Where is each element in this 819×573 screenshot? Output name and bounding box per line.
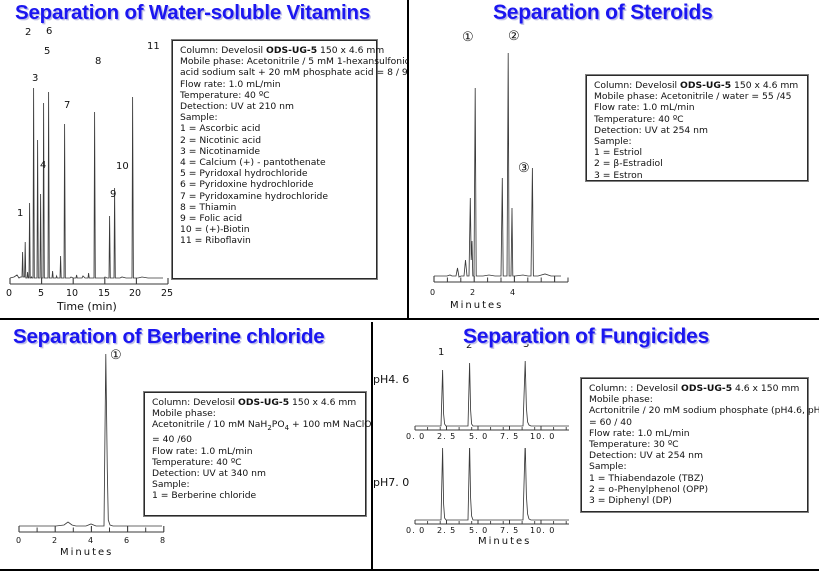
peak-label-10: 10 [116, 161, 129, 172]
x-axis-title: Minutes [478, 536, 531, 547]
info-mobile-phase-detail: Acrtonitrile / 20 mM sodium phosphate (p… [589, 405, 801, 416]
peak-label-1: ① [110, 348, 122, 363]
x-tick-6: 6 [124, 536, 130, 545]
info-mobile-phase-2: acid sodium salt + 20 mM phosphate acid … [180, 67, 370, 78]
info-sample-heading: Sample: [180, 112, 370, 123]
x-tick-25-ph70: 2. 5 [437, 526, 456, 535]
peak-label-2: ② [508, 29, 520, 44]
info-column: Column: : Develosil ODS-UG-5 4.6 x 150 m… [589, 383, 801, 394]
poster-canvas: 1 2 3 4 5 6 7 8 9 10 11 0 5 10 15 20 25 … [0, 0, 819, 573]
info-flow-rate: Flow rate: 1.0 mL/min [589, 428, 801, 439]
info-ratio: = 60 / 40 [589, 417, 801, 428]
x-tick-8: 8 [160, 536, 166, 545]
panel-berberine-chloride: ① 0 2 4 6 8 Minutes Column: Develosil OD… [0, 320, 371, 573]
info-mobile-phase-detail: Acetonitrile / 10 mM NaH2PO4 + 100 mM Na… [152, 419, 359, 434]
peak-label-5: 5 [44, 46, 50, 57]
peak-label-1: 1 [17, 208, 23, 219]
sample-item-5: 5 = Pyridoxal hydrochloride [180, 168, 370, 179]
info-flow-rate: Flow rate: 1.0 mL/min [180, 79, 370, 90]
x-tick-00-ph46: 0. 0 [406, 432, 425, 441]
sample-item-8: 8 = Thiamin [180, 202, 370, 213]
panel-steroids: ① ② ③ 0 2 4 Minutes Column: Develosil OD… [409, 0, 819, 318]
sample-item-3: 3 = Estron [594, 170, 801, 181]
ph-label-bottom: pH7. 0 [373, 476, 409, 489]
chromatogram-fungicides-ph70 [413, 448, 573, 530]
panel-fungicides: pH4. 6 pH7. 0 [373, 320, 819, 573]
x-tick-5: 5 [38, 288, 44, 299]
info-temperature: Temperature: 40 ºC [152, 457, 359, 468]
peak-label-7: 7 [64, 100, 70, 111]
sample-item-3: 3 = Diphenyl (DP) [589, 495, 801, 506]
infobox-fungicides: Column: : Develosil ODS-UG-5 4.6 x 150 m… [580, 377, 809, 513]
infobox-steroids: Column: Develosil ODS-UG-5 150 x 4.6 mm … [585, 74, 809, 182]
chromatogram-fungicides-ph46 [413, 358, 573, 436]
sample-item-3: 3 = Nicotinamide [180, 146, 370, 157]
info-column: Column: Develosil ODS-UG-5 150 x 4.6 mm [180, 45, 370, 56]
info-detection: Detection: UV at 254 nm [594, 125, 801, 136]
peak-label-6: 6 [46, 26, 52, 37]
x-tick-4: 4 [510, 288, 516, 297]
x-tick-50-ph46: 5. 0 [469, 432, 488, 441]
x-tick-20: 20 [129, 288, 141, 299]
x-axis-title: Time (min) [57, 300, 117, 313]
peak-label-3: ③ [518, 161, 530, 176]
info-flow-rate: Flow rate: 1.0 mL/min [594, 102, 801, 113]
sample-item-2: 2 = o-Phenylphenol (OPP) [589, 484, 801, 495]
info-temperature: Temperature: 30 ºC [589, 439, 801, 450]
info-mobile-phase-heading: Mobile phase: [589, 394, 801, 405]
peak-label-11: 11 [147, 41, 160, 52]
info-detection: Detection: UV at 210 nm [180, 101, 370, 112]
peak-label-3: 3 [32, 73, 38, 84]
peak-label-1-ph46: 1 [438, 347, 444, 358]
x-tick-15: 15 [98, 288, 110, 299]
chromatogram-vitamins [8, 28, 173, 290]
info-column: Column: Develosil ODS-UG-5 150 x 4.6 mm [152, 397, 359, 408]
sample-item-1: 1 = Berberine chloride [152, 490, 359, 501]
peak-label-1: ① [462, 30, 474, 45]
info-mobile-phase: Mobile phase: Acetonitrile / water = 55 … [594, 91, 801, 102]
sample-item-11: 11 = Riboflavin [180, 235, 370, 246]
info-column: Column: Develosil ODS-UG-5 150 x 4.6 mm [594, 80, 801, 91]
x-tick-0: 0 [6, 288, 12, 299]
x-tick-75-ph46: 7. 5 [500, 432, 519, 441]
peak-label-2: 2 [25, 27, 31, 38]
x-axis-title: Minutes [60, 547, 113, 558]
infobox-berberine: Column: Develosil ODS-UG-5 150 x 4.6 mm … [143, 391, 367, 517]
panel-title-fungicides: Separation of Fungicides [463, 325, 709, 349]
peak-label-8: 8 [95, 56, 101, 67]
x-tick-2: 2 [52, 536, 58, 545]
x-tick-0: 0 [430, 288, 436, 297]
sample-item-10: 10 = (+)-Biotin [180, 224, 370, 235]
ph-label-top: pH4. 6 [373, 373, 409, 386]
x-tick-2: 2 [470, 288, 476, 297]
info-mobile-phase-1: Mobile phase: Acetonitrile / 5 mM 1-hexa… [180, 56, 370, 67]
info-detection: Detection: UV at 254 nm [589, 450, 801, 461]
x-axis-title: Minutes [450, 300, 503, 311]
chromatogram-steroids [431, 28, 581, 290]
info-temperature: Temperature: 40 ºC [180, 90, 370, 101]
x-tick-75-ph70: 7. 5 [500, 526, 519, 535]
sample-item-7: 7 = Pyridoxamine hydrochloride [180, 191, 370, 202]
sample-item-2: 2 = Nicotinic acid [180, 135, 370, 146]
sample-item-1: 1 = Thiabendazole (TBZ) [589, 473, 801, 484]
panel-title-berberine: Separation of Berberine chloride [13, 325, 324, 349]
x-tick-100-ph70: 10. 0 [530, 526, 555, 535]
sample-item-2: 2 = β-Estradiol [594, 158, 801, 169]
infobox-vitamins: Column: Develosil ODS-UG-5 150 x 4.6 mm … [171, 39, 378, 280]
info-temperature: Temperature: 40 ºC [594, 114, 801, 125]
x-tick-100-ph46: 10. 0 [530, 432, 555, 441]
x-tick-50-ph70: 5. 0 [469, 526, 488, 535]
info-sample-heading: Sample: [594, 136, 801, 147]
info-sample-heading: Sample: [152, 479, 359, 490]
x-tick-00-ph70: 0. 0 [406, 526, 425, 535]
info-mobile-phase-heading: Mobile phase: [152, 408, 359, 419]
panel-title-steroids: Separation of Steroids [493, 1, 713, 25]
sample-item-9: 9 = Folic acid [180, 213, 370, 224]
sample-item-1: 1 = Estriol [594, 147, 801, 158]
peak-label-4: 4 [40, 160, 46, 171]
x-tick-0: 0 [16, 536, 22, 545]
panel-title-vitamins: Separation of Water-soluble Vitamins [15, 1, 370, 25]
x-tick-25: 25 [161, 288, 173, 299]
peak-label-9: 9 [110, 189, 116, 200]
sample-item-1: 1 = Ascorbic acid [180, 123, 370, 134]
sample-item-6: 6 = Pyridoxine hydrochloride [180, 179, 370, 190]
info-ratio: = 40 /60 [152, 434, 359, 445]
info-sample-heading: Sample: [589, 461, 801, 472]
info-flow-rate: Flow rate: 1.0 mL/min [152, 446, 359, 457]
x-tick-25-ph46: 2. 5 [437, 432, 456, 441]
info-detection: Detection: UV at 340 nm [152, 468, 359, 479]
x-tick-4: 4 [88, 536, 94, 545]
sample-item-4: 4 = Calcium (+) - pantothenate [180, 157, 370, 168]
panel-water-soluble-vitamins: 1 2 3 4 5 6 7 8 9 10 11 0 5 10 15 20 25 … [0, 0, 408, 318]
x-tick-10: 10 [66, 288, 78, 299]
